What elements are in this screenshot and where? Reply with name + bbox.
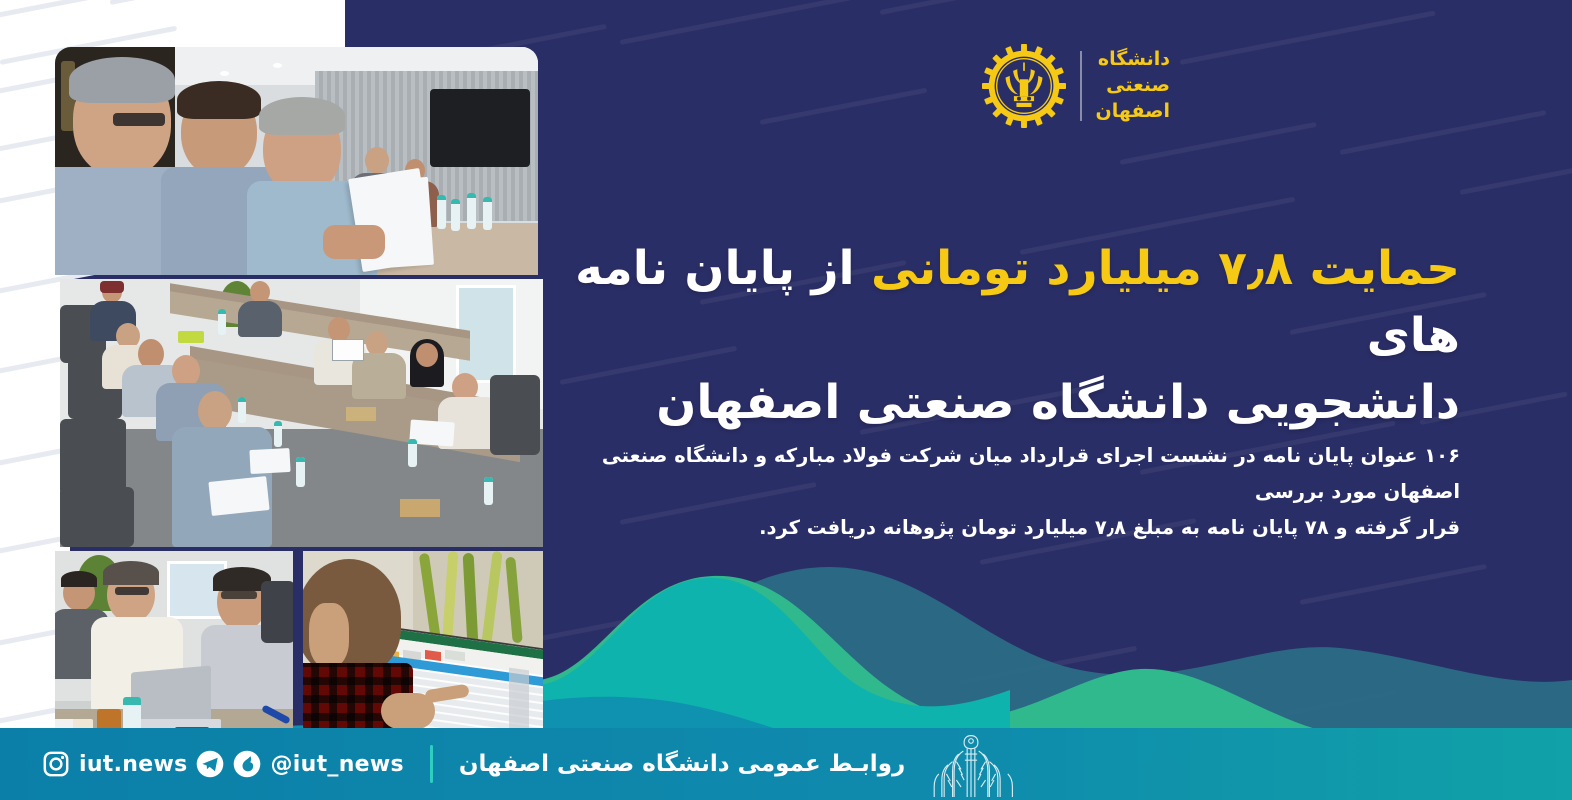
- subtitle-line-2: قرار گرفته و ۷۸ پایان نامه به مبلغ ۷٫۸ م…: [759, 516, 1460, 539]
- logo-divider: [1080, 51, 1082, 121]
- instagram-icon[interactable]: [42, 750, 70, 778]
- social-handles: iut.news @iut_news: [42, 750, 404, 778]
- iut-gear-emblem-icon: [982, 44, 1066, 128]
- footer-bar: iut.news @iut_news روابـط عمومی دانشگاه: [0, 728, 1572, 800]
- subtitle-line-1: ۱۰۶ عنوان پایان نامه در نشست اجرای قرارد…: [602, 444, 1460, 503]
- photo-collage: [55, 47, 545, 717]
- headline-line-2: دانشجویی دانشگاه صنعتی اصفهان: [656, 375, 1460, 430]
- telegram-handle[interactable]: @iut_news: [270, 752, 403, 777]
- bale-icon[interactable]: [233, 750, 261, 778]
- headline-highlight: حمایت ۷٫۸ میلیارد تومانی: [871, 241, 1460, 296]
- news-poster: دانشگاه صنعتی اصفهان: [0, 0, 1572, 800]
- photo-meeting-reading: [55, 47, 538, 275]
- subtitle: ۱۰۶ عنوان پایان نامه در نشست اجرای قرارد…: [560, 438, 1460, 546]
- headline: حمایت ۷٫۸ میلیارد تومانی از پایان نامه ه…: [570, 236, 1460, 436]
- logo-line-3: اصفهان: [1096, 100, 1170, 124]
- iut-building-icon: [925, 731, 1017, 797]
- logo-line-2: صنعتی: [1096, 74, 1170, 98]
- telegram-icon[interactable]: [196, 750, 224, 778]
- logo-line-1: دانشگاه: [1096, 48, 1170, 72]
- footer-divider: [430, 745, 433, 783]
- instagram-handle[interactable]: iut.news: [79, 752, 187, 777]
- logo-wordmark: دانشگاه صنعتی اصفهان: [1096, 48, 1170, 123]
- public-relations-label: روابـط عمومی دانشگاه صنعتی اصفهان: [459, 751, 905, 777]
- university-logo: دانشگاه صنعتی اصفهان: [940, 36, 1170, 136]
- photo-conference-room: [60, 279, 543, 547]
